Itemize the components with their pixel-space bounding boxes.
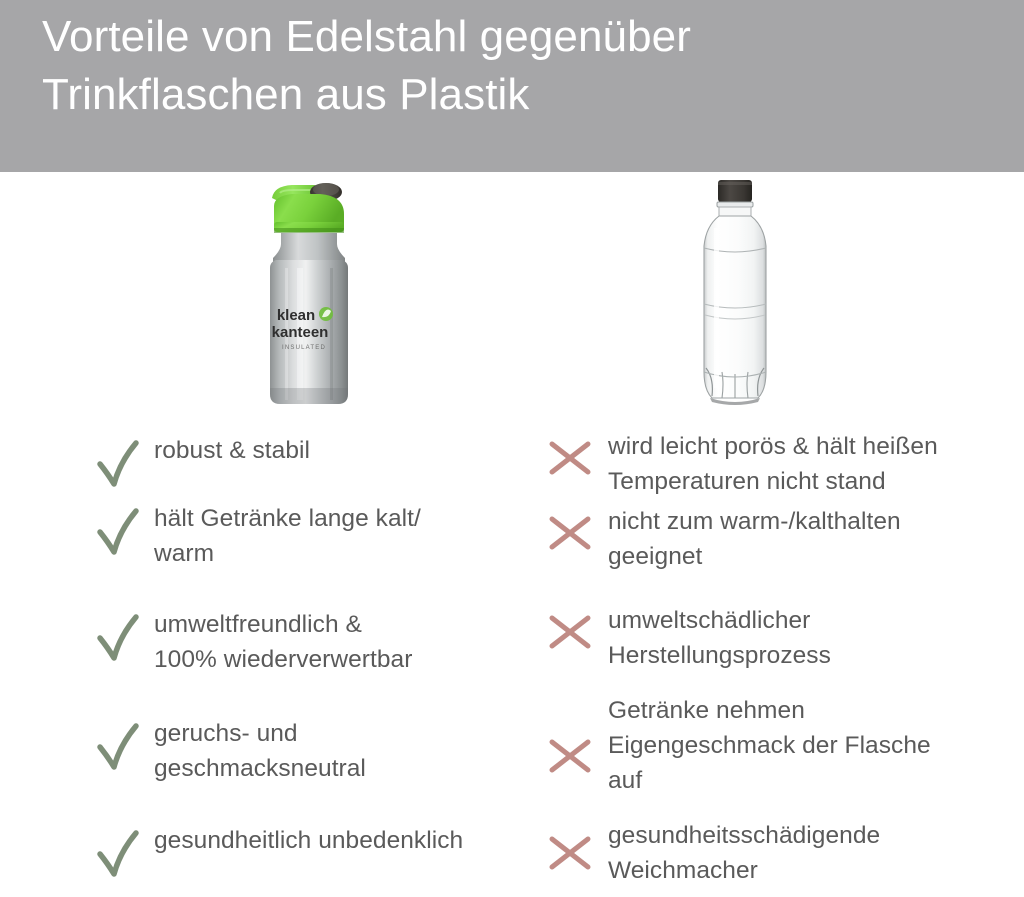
cons-item: wird leicht porös & hält heißen Temperat… [542, 430, 1020, 500]
cons-item-label: wird leicht porös & hält heißen Temperat… [598, 430, 1020, 500]
pros-item: robust & stabil [92, 434, 540, 490]
check-icon [92, 434, 148, 490]
cross-icon [542, 604, 598, 660]
cons-item-label: Getränke nehmen Eigengeschmack der Flasc… [598, 694, 1020, 798]
steel-bottle-icon: klean kanteen INSULATED [250, 172, 370, 412]
pros-item: gesundheitlich unbedenklich [92, 824, 540, 880]
cons-item-label: gesundheitsschädigende Weichmacher [598, 819, 1020, 889]
brand-line-2: kanteen [272, 324, 329, 341]
cross-icon [542, 728, 598, 784]
infographic-root: Vorteile von Edelstahl gegenüber Trinkfl… [0, 0, 1024, 897]
pros-item-label: geruchs- und geschmacksneutral [148, 717, 540, 787]
page-title: Vorteile von Edelstahl gegenüber Trinkfl… [42, 8, 942, 124]
pros-item: hält Getränke lange kalt/ warm [92, 502, 540, 572]
brand-line-1: klean [277, 307, 315, 324]
header-band: Vorteile von Edelstahl gegenüber Trinkfl… [0, 0, 1024, 172]
check-icon [92, 717, 148, 773]
cross-icon [542, 505, 598, 561]
pros-item-label: gesundheitlich unbedenklich [148, 824, 540, 859]
check-icon [92, 608, 148, 664]
cons-item: nicht zum warm-/kalthalten geeignet [542, 505, 1020, 575]
cons-item: gesundheitsschädigende Weichmacher [542, 819, 1020, 889]
pros-item-label: umweltfreundlich & 100% wiederverwertbar [148, 608, 540, 678]
check-icon [92, 502, 148, 558]
product-image-row: klean kanteen INSULATED [0, 172, 1024, 424]
pros-item-label: hält Getränke lange kalt/ warm [148, 502, 540, 572]
plastic-bottle-icon [680, 172, 790, 412]
pros-item: geruchs- und geschmacksneutral [92, 717, 540, 787]
cross-icon [542, 430, 598, 486]
comparison-columns: robust & stabil hält Getränke lange kalt… [0, 424, 1024, 897]
check-icon [92, 824, 148, 880]
cons-item: Getränke nehmen Eigengeschmack der Flasc… [542, 694, 1020, 798]
pros-item: umweltfreundlich & 100% wiederverwertbar [92, 608, 540, 678]
cross-icon [542, 825, 598, 881]
cons-item-label: umweltschädlicher Herstellungsprozess [598, 604, 1020, 674]
cons-item-label: nicht zum warm-/kalthalten geeignet [598, 505, 1020, 575]
plastic-bottle-image [600, 172, 870, 424]
brand-tagline: INSULATED [282, 345, 326, 351]
steel-bottle-image: klean kanteen INSULATED [180, 172, 440, 424]
cons-item: umweltschädlicher Herstellungsprozess [542, 604, 1020, 674]
pros-item-label: robust & stabil [148, 434, 540, 469]
